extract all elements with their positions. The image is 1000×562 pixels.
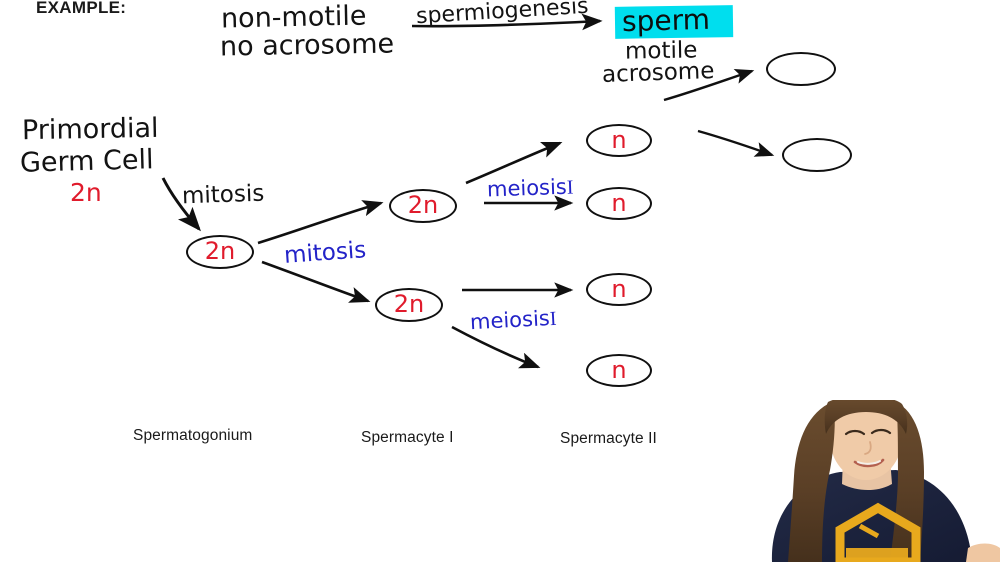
cell-spermacyte2-fourth: n [586, 354, 652, 387]
handwriting-sperm-wrap: sperm [617, 4, 715, 38]
handwriting-meiosis-second-numeral: I [549, 308, 557, 330]
arrow-mitosis-2-lower [262, 262, 368, 301]
cell-spermatogonium: 2n [186, 235, 254, 269]
cell-spermatid-lower [782, 138, 852, 172]
handwriting-sperm: sperm [617, 3, 716, 40]
cell-spermacyte1-lower: 2n [375, 288, 443, 322]
stage-label-spermatogonium: Spermatogonium [133, 427, 252, 445]
cell-spermacyte1-upper: 2n [389, 189, 457, 223]
handwriting-mitosis-second: mitosis [283, 237, 367, 269]
cell-spermatid-upper [766, 52, 836, 86]
cell-ploidy-label: 2n [408, 193, 438, 217]
handwriting-spermiogenesis: spermiogenesis [415, 0, 589, 29]
handwriting-meiosis-first-word: meiosis [487, 175, 568, 202]
cell-spermacyte2-second: n [586, 187, 652, 220]
cell-ploidy-label: n [611, 277, 626, 301]
handwriting-primordial-ploidy: 2n [70, 178, 102, 207]
cell-ploidy-label: n [611, 128, 626, 152]
cell-ploidy-label: n [611, 358, 626, 382]
handwriting-acrosome: acrosome [602, 58, 715, 88]
handwriting-meiosis-first-numeral: I [566, 176, 573, 198]
handwriting-primordial: Primordial [22, 113, 159, 146]
cell-spermacyte2-third: n [586, 273, 652, 306]
handwriting-meiosis-second: meiosisI [469, 306, 557, 335]
example-label: EXAMPLE: [36, 0, 126, 18]
stage-label-spermacyte-1: Spermacyte I [361, 429, 454, 447]
handwriting-mitosis-first: mitosis [182, 181, 265, 210]
cell-ploidy-label: 2n [205, 239, 235, 263]
shirt-text-graphic [846, 548, 908, 562]
cell-spermacyte2-first: n [586, 124, 652, 157]
handwriting-no-acrosome: no acrosome [220, 28, 395, 62]
instructor-video-overlay [710, 400, 1000, 562]
cell-ploidy-label: 2n [394, 292, 424, 316]
handwriting-meiosis-first: meiosisI [487, 174, 574, 202]
cell-ploidy-label: n [611, 191, 626, 215]
lecture-slide: EXAMPLE: non-motile no acrosome spe [0, 0, 1000, 562]
handwriting-meiosis-second-word: meiosis [469, 306, 550, 334]
arrow-spermatid-lower [698, 131, 772, 155]
instructor-figure [710, 400, 1000, 562]
handwriting-germ-cell: Germ Cell [20, 144, 154, 178]
stage-label-spermacyte-2: Spermacyte II [560, 430, 657, 448]
